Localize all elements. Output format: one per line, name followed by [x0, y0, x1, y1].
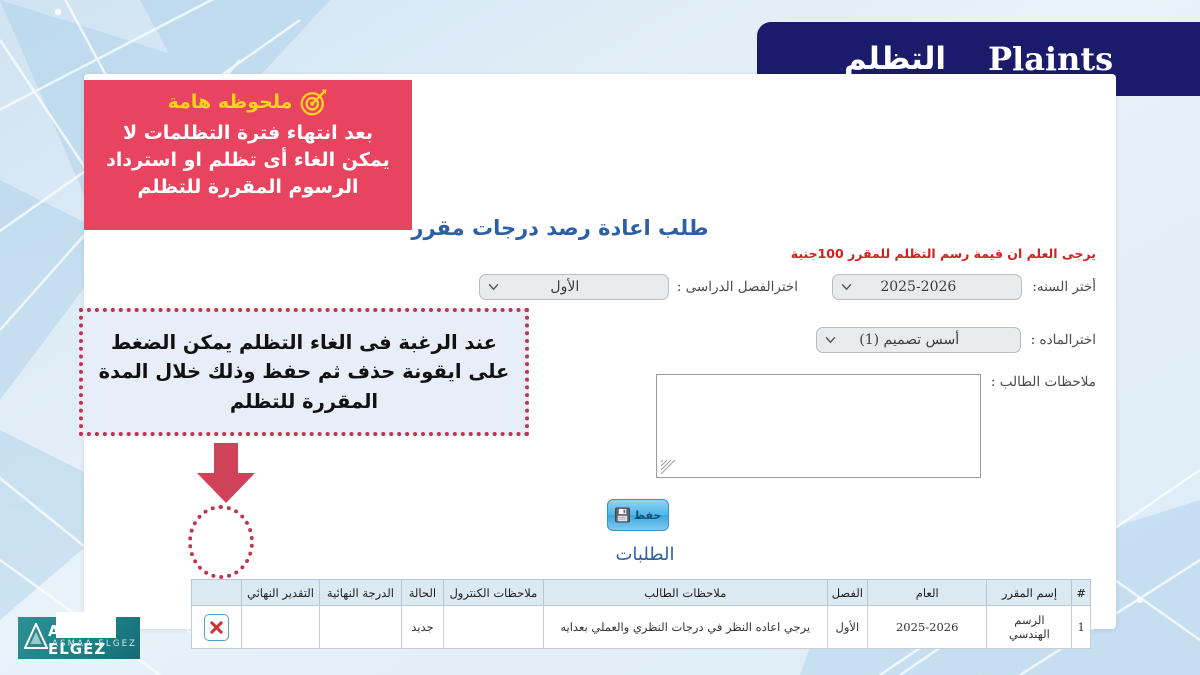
cell-status: جديد — [401, 606, 443, 649]
red-x-icon — [209, 620, 224, 635]
cell-final-grade — [319, 606, 401, 649]
resize-grip-icon[interactable] — [660, 459, 676, 475]
student-notes-row: ملاحظات الطالب : — [656, 374, 1096, 478]
cell-year: 2025-2026 — [867, 606, 987, 649]
delete-row-button[interactable] — [204, 614, 229, 641]
cancel-hint-box: عند الرغبة فى الغاء التظلم يمكن الضغط عل… — [79, 308, 529, 436]
screenshot-root: Plaints التظلم طلب اعادة رصد درجات مقرر … — [0, 0, 1200, 675]
down-arrow-annotation — [193, 443, 259, 505]
term-label: اخترالفصل الدراسى : — [677, 279, 798, 295]
target-icon — [300, 88, 328, 116]
student-notes-textarea[interactable] — [656, 374, 981, 478]
logo-occlusion — [56, 612, 116, 638]
term-row: اخترالفصل الدراسى : الأول — [479, 274, 798, 300]
logo-mark-icon — [24, 623, 48, 649]
th-actions — [192, 580, 242, 606]
th-control-notes: ملاحظات الكنترول — [443, 580, 543, 606]
th-year: العام — [867, 580, 987, 606]
save-button-label: حفظ — [634, 509, 662, 522]
fee-warning-text: يرجى العلم ان قيمة رسم التظلم للمقرر 100… — [791, 246, 1096, 261]
cell-actions — [192, 606, 242, 649]
cell-student-notes: يرجي اعاده النظر في درجات النظري والعملي… — [543, 606, 827, 649]
cell-term: الأول — [827, 606, 867, 649]
material-value: أسس تصميم (1) — [825, 332, 994, 348]
requests-section-title: الطلبات — [129, 544, 1161, 565]
important-note-title-row: ملحوظه هامة — [100, 88, 396, 116]
academic-year-label: أختر السنه: — [1032, 279, 1096, 295]
important-note-body: بعد انتهاء فترة التظلمات لا يمكن الغاء أ… — [100, 120, 396, 201]
chevron-down-icon — [488, 284, 499, 291]
chevron-down-icon — [841, 284, 852, 291]
logo-subtitle: ASMAA ELGEZ — [52, 639, 137, 649]
material-label: اخترالماده : — [1031, 332, 1096, 348]
student-notes-label: ملاحظات الطالب : — [991, 374, 1096, 390]
academic-year-row: أختر السنه: 2025-2026 — [832, 274, 1096, 300]
important-note-title: ملحوظه هامة — [168, 90, 293, 115]
term-value: الأول — [488, 279, 642, 295]
cancel-hint-body: عند الرغبة فى الغاء التظلم يمكن الضغط عل… — [97, 328, 511, 416]
cell-control-notes — [443, 606, 543, 649]
cell-course: الرسم الهندسي — [987, 606, 1072, 649]
th-student-notes: ملاحظات الطالب — [543, 580, 827, 606]
table-header-row: # إسم المقرر العام الفصل ملاحظات الطالب … — [192, 580, 1091, 606]
th-course: إسم المقرر — [987, 580, 1072, 606]
academic-year-select[interactable]: 2025-2026 — [832, 274, 1022, 300]
table-row: 1 الرسم الهندسي 2025-2026 الأول يرجي اعا… — [192, 606, 1091, 649]
chevron-down-icon — [825, 337, 836, 344]
floppy-disk-icon — [615, 507, 630, 523]
header-title-ar: التظلم — [844, 41, 946, 77]
th-index: # — [1072, 580, 1091, 606]
th-final-estimate: التقدير النهائي — [241, 580, 319, 606]
th-term: الفصل — [827, 580, 867, 606]
th-final-grade: الدرجة النهائية — [319, 580, 401, 606]
requests-table: # إسم المقرر العام الفصل ملاحظات الطالب … — [191, 579, 1091, 649]
th-status: الحالة — [401, 580, 443, 606]
cell-final-estimate — [241, 606, 319, 649]
cell-index: 1 — [1072, 606, 1091, 649]
header-title-en: Plaints — [988, 40, 1113, 78]
material-row: اخترالماده : أسس تصميم (1) — [816, 327, 1096, 353]
important-note-box: ملحوظه هامة بعد انتهاء فترة التظلمات لا … — [84, 80, 412, 230]
academic-year-value: 2025-2026 — [841, 279, 995, 295]
save-button[interactable]: حفظ — [607, 499, 669, 531]
term-select[interactable]: الأول — [479, 274, 669, 300]
material-select[interactable]: أسس تصميم (1) — [816, 327, 1021, 353]
